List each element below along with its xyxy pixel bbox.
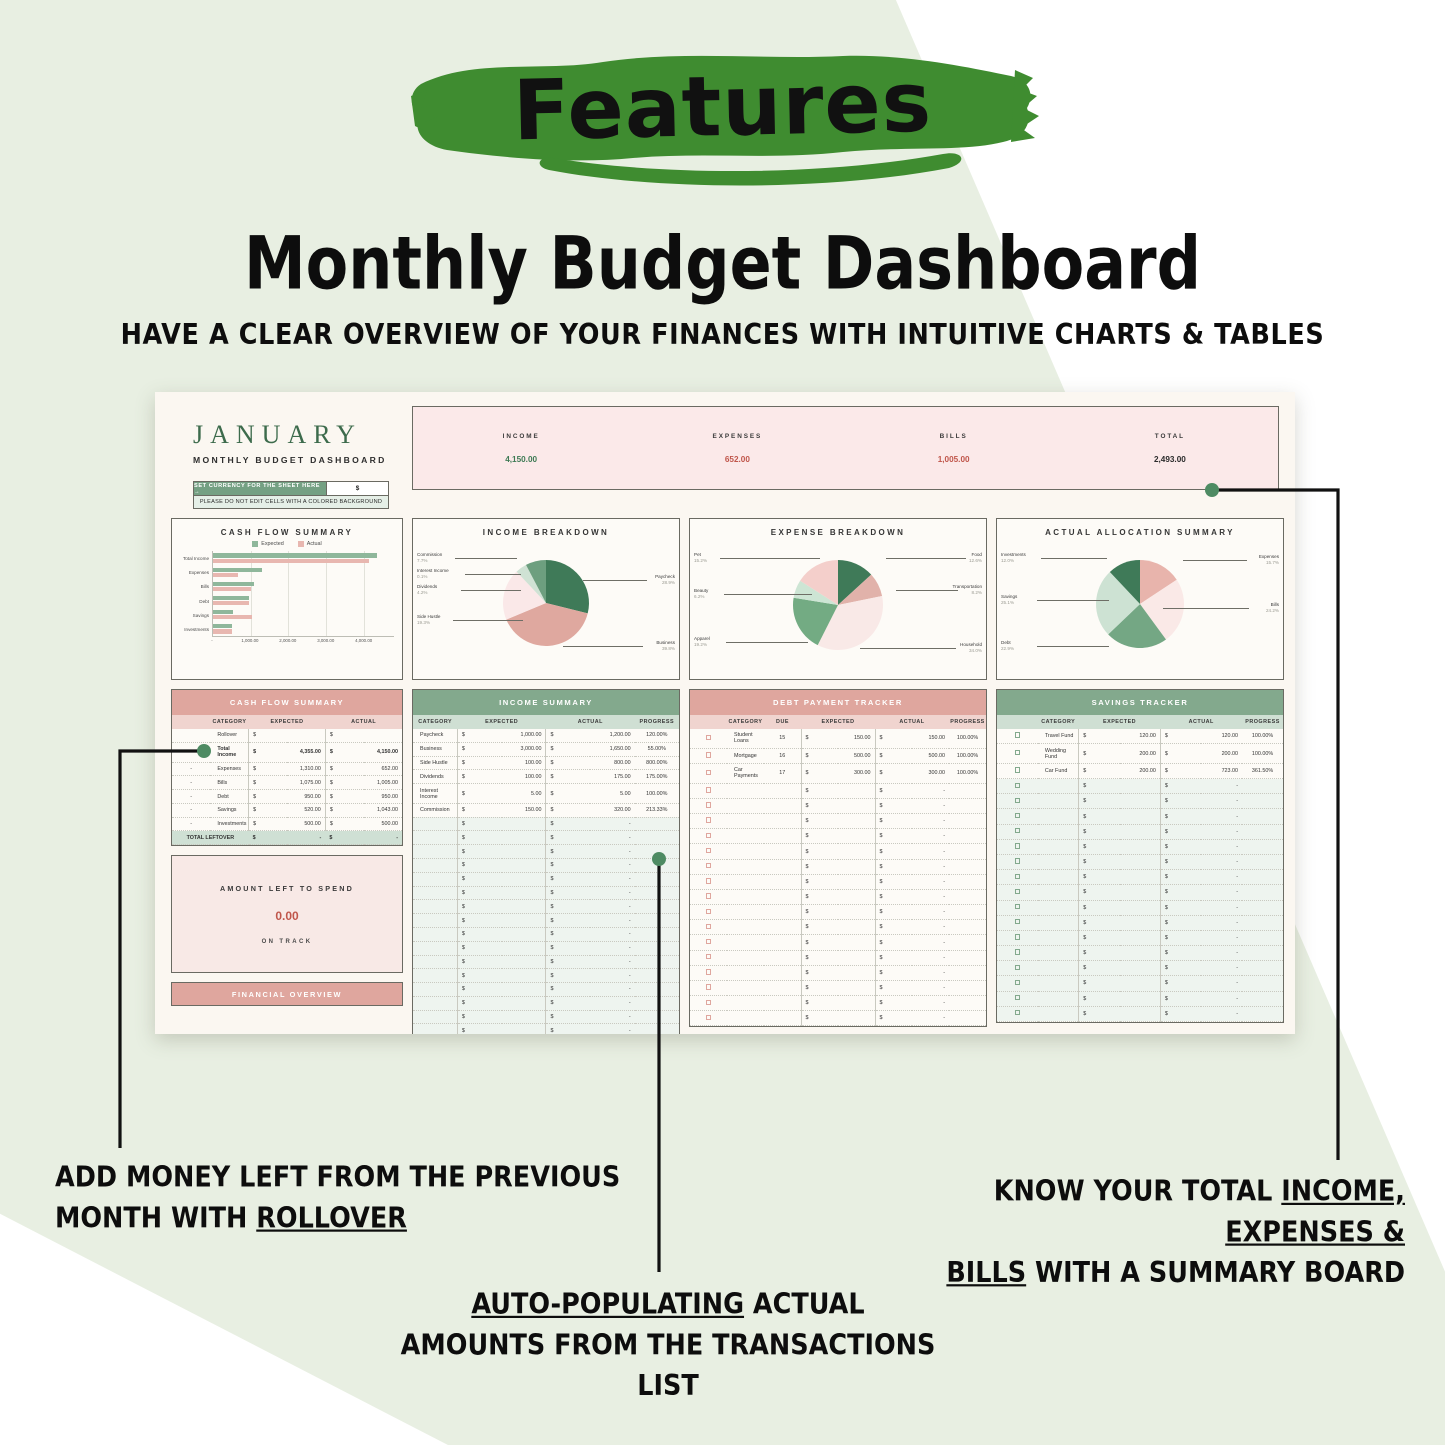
row-actual: -	[912, 844, 949, 859]
callout-auto-line2: AMOUNTS FROM THE TRANSACTIONS LIST	[378, 1326, 958, 1407]
checkbox-icon[interactable]	[1015, 828, 1020, 833]
table-header-row: CATEGORYDUEEXPECTEDACTUALPROGRESS	[690, 715, 986, 729]
checkbox-icon[interactable]	[706, 1015, 711, 1020]
row-checkbox[interactable]	[690, 1011, 727, 1026]
amount-left-to-spend-card: AMOUNT LEFT TO SPEND 0.00 ON TRACK	[171, 855, 403, 973]
bar-expected	[213, 568, 262, 572]
bar-group	[213, 623, 394, 635]
bar-group	[213, 552, 394, 564]
row-checkbox[interactable]	[690, 950, 727, 965]
currency-symbol: $	[1079, 976, 1120, 991]
currency-symbol: $	[1079, 824, 1120, 839]
table-row-empty: $$-	[413, 969, 679, 983]
row-actual: -	[1201, 991, 1242, 1006]
row-actual: 150.00	[912, 729, 949, 748]
row-checkbox[interactable]	[690, 905, 727, 920]
row-progress	[635, 845, 679, 859]
currency-symbol: $	[1079, 744, 1120, 764]
row-checkbox[interactable]	[997, 729, 1038, 744]
row-expected: 950.00	[287, 790, 325, 804]
table-row-empty: $$-	[413, 927, 679, 941]
row-progress	[635, 886, 679, 900]
row-actual: -	[912, 905, 949, 920]
bar-expected	[213, 582, 254, 586]
row-category	[727, 905, 764, 920]
callout-auto-populating: AUTO-POPULATING ACTUAL AMOUNTS FROM THE …	[378, 1285, 958, 1407]
total-expected: -	[287, 831, 325, 845]
row-category	[727, 798, 764, 813]
checkbox-icon[interactable]	[706, 787, 711, 792]
table-row: Student Loans15$150.00$150.00100.00%	[690, 729, 986, 748]
row-category	[413, 927, 457, 941]
checkbox-icon[interactable]	[706, 735, 711, 740]
pie-label-savings: Savings25.1%	[1001, 594, 1017, 605]
pie-label-business: Business39.8%	[656, 640, 675, 651]
row-category	[413, 845, 457, 859]
currency-symbol: $	[801, 965, 838, 980]
currency-symbol: $	[457, 914, 501, 928]
checkbox-icon[interactable]	[1015, 732, 1020, 737]
checkbox-icon[interactable]	[1015, 965, 1020, 970]
row-progress	[949, 996, 986, 1011]
table-row-empty: $$-	[413, 831, 679, 845]
row-progress	[635, 983, 679, 997]
table-row-empty: $$-	[997, 1006, 1283, 1021]
currency-symbol: $	[1160, 885, 1201, 900]
amount-left-status: ON TRACK	[262, 939, 313, 945]
row-category	[727, 889, 764, 904]
row-actual: -	[590, 914, 634, 928]
row-actual: -	[912, 859, 949, 874]
row-category	[413, 886, 457, 900]
row-actual: -	[1201, 794, 1242, 809]
column-header: CATEGORY	[413, 715, 457, 729]
row-checkbox[interactable]	[997, 991, 1038, 1006]
currency-symbol: $	[325, 742, 363, 762]
currency-symbol: $	[546, 803, 590, 817]
currency-symbol: $	[1160, 809, 1201, 824]
row-category: Student Loans	[727, 729, 764, 748]
row-progress: 55.00%	[635, 742, 679, 756]
bar-actual	[213, 615, 252, 619]
checkbox-icon[interactable]	[1015, 767, 1020, 772]
checkbox-icon[interactable]	[706, 833, 711, 838]
currency-symbol: $	[1160, 794, 1201, 809]
row-sign: -	[172, 790, 210, 804]
checkbox-icon[interactable]	[1015, 858, 1020, 863]
column-header: EXPECTED	[801, 715, 875, 729]
row-expected	[287, 729, 325, 742]
row-checkbox[interactable]	[690, 889, 727, 904]
row-checkbox[interactable]	[690, 844, 727, 859]
row-checkbox[interactable]	[690, 920, 727, 935]
checkbox-icon[interactable]	[1015, 949, 1020, 954]
row-checkbox[interactable]	[690, 980, 727, 995]
pie-label-text: Investments	[1001, 552, 1026, 557]
row-progress	[1242, 1006, 1283, 1021]
row-category: Debt	[210, 790, 248, 804]
checkbox-icon[interactable]	[1015, 919, 1020, 924]
row-category	[1038, 779, 1079, 794]
bar-label: Debt	[176, 599, 212, 604]
row-expected: 100.00	[502, 756, 546, 770]
row-actual: -	[1201, 870, 1242, 885]
row-expected	[502, 941, 546, 955]
row-progress	[1242, 961, 1283, 976]
row-category: Business	[413, 742, 457, 756]
row-expected: 150.00	[838, 729, 875, 748]
pie-label-percent: 39.8%	[662, 646, 675, 651]
checkbox-icon[interactable]	[1015, 889, 1020, 894]
summary-item-label: EXPENSES	[629, 433, 845, 440]
row-category: Investments	[210, 817, 248, 831]
table-row-empty: $$-	[997, 930, 1283, 945]
row-expected: 300.00	[838, 763, 875, 783]
checkbox-icon[interactable]	[1015, 995, 1020, 1000]
pie-leader-line	[455, 558, 517, 559]
row-progress: 800.00%	[635, 756, 679, 770]
currency-symbol: $	[1079, 915, 1120, 930]
row-checkbox[interactable]	[997, 809, 1038, 824]
row-sign	[172, 729, 210, 742]
currency-setting-box[interactable]: SET CURRENCY FOR THE SHEET HERE → $ PLEA…	[193, 481, 389, 509]
row-checkbox[interactable]	[997, 976, 1038, 991]
checkbox-icon[interactable]	[1015, 783, 1020, 788]
checkbox-icon[interactable]	[706, 848, 711, 853]
row-checkbox[interactable]	[690, 763, 727, 783]
pie-label-percent: 19.2%	[694, 642, 707, 647]
checkbox-icon[interactable]	[1015, 980, 1020, 985]
row-progress	[1242, 854, 1283, 869]
row-category	[1038, 915, 1079, 930]
legend-swatch	[252, 541, 258, 547]
row-category	[413, 859, 457, 873]
column-header: EXPECTED	[1079, 715, 1161, 729]
row-expected	[838, 950, 875, 965]
bar-group	[213, 581, 394, 593]
pie-label-text: Debt	[1001, 640, 1011, 645]
row-checkbox[interactable]	[997, 854, 1038, 869]
row-progress	[1242, 976, 1283, 991]
row-checkbox[interactable]	[690, 965, 727, 980]
checkbox-icon[interactable]	[706, 817, 711, 822]
checkbox-icon[interactable]	[706, 893, 711, 898]
checkbox-icon[interactable]	[706, 770, 711, 775]
checkbox-icon[interactable]	[706, 984, 711, 989]
row-actual: -	[590, 955, 634, 969]
row-category	[413, 1024, 457, 1034]
row-due	[764, 935, 801, 950]
table-row-empty: $$-	[690, 905, 986, 920]
currency-symbol: $	[457, 770, 501, 784]
pie-leader-line	[896, 590, 958, 591]
row-progress: 175.00%	[635, 770, 679, 784]
table-row-empty: $$-	[690, 829, 986, 844]
currency-symbol: $	[457, 859, 501, 873]
row-category: Commission	[413, 803, 457, 817]
bar-expected	[213, 596, 249, 600]
row-checkbox[interactable]	[997, 870, 1038, 885]
row-actual: 120.00	[1201, 729, 1242, 744]
row-progress: 213.33%	[635, 803, 679, 817]
row-checkbox[interactable]	[997, 839, 1038, 854]
currency-symbol: $	[1160, 991, 1201, 1006]
row-checkbox[interactable]	[690, 829, 727, 844]
currency-symbol: $	[1079, 991, 1120, 1006]
table-row: +Total Income$4,355.00$4,150.00	[172, 742, 402, 762]
row-checkbox[interactable]	[690, 874, 727, 889]
checkbox-icon[interactable]	[1015, 750, 1020, 755]
currency-symbol: $	[546, 983, 590, 997]
row-actual: -	[912, 996, 949, 1011]
row-actual: -	[912, 965, 949, 980]
row-checkbox[interactable]	[997, 824, 1038, 839]
row-category	[413, 941, 457, 955]
checkbox-icon[interactable]	[706, 969, 711, 974]
row-due: 15	[764, 729, 801, 748]
pie-chart	[413, 554, 679, 666]
row-checkbox[interactable]	[997, 915, 1038, 930]
currency-symbol: $	[457, 927, 501, 941]
row-sign: -	[172, 762, 210, 776]
pie-label-percent: 12.0%	[1001, 558, 1014, 563]
bar-expected	[213, 624, 232, 628]
currency-symbol: $	[457, 969, 501, 983]
row-due	[764, 814, 801, 829]
checkbox-icon[interactable]	[1015, 874, 1020, 879]
row-actual: 1,200.00	[590, 729, 634, 742]
row-checkbox[interactable]	[997, 946, 1038, 961]
table-row-empty: $$-	[413, 872, 679, 886]
currency-symbol: $	[1079, 930, 1120, 945]
checkbox-icon[interactable]	[706, 1000, 711, 1005]
row-category: Car Fund	[1038, 763, 1079, 778]
currency-symbol: $	[1079, 794, 1120, 809]
row-expected: 1,310.00	[287, 762, 325, 776]
pie-label-text: Bills	[1271, 602, 1279, 607]
checkbox-icon[interactable]	[706, 802, 711, 807]
row-sign: +	[172, 742, 210, 762]
currency-symbol: $	[1079, 946, 1120, 961]
currency-symbol: $	[249, 803, 287, 817]
row-category	[413, 831, 457, 845]
row-expected: 5.00	[502, 784, 546, 804]
row-actual: 175.00	[590, 770, 634, 784]
currency-symbol: $	[1160, 729, 1201, 744]
currency-symbol: $	[1160, 854, 1201, 869]
checkbox-icon[interactable]	[1015, 1010, 1020, 1015]
checkbox-icon[interactable]	[706, 954, 711, 959]
row-checkbox[interactable]	[997, 1006, 1038, 1021]
amount-left-title: AMOUNT LEFT TO SPEND	[220, 884, 354, 893]
savings-tracker-table: SAVINGS TRACKER CATEGORYEXPECTEDACTUALPR…	[996, 689, 1284, 1023]
row-checkbox[interactable]	[690, 814, 727, 829]
currency-symbol: $	[875, 996, 912, 1011]
currency-symbol: $	[875, 829, 912, 844]
callout-rollover: ADD MONEY LEFT FROM THE PREVIOUS MONTH W…	[55, 1158, 620, 1239]
row-category	[1038, 976, 1079, 991]
row-actual: -	[1201, 915, 1242, 930]
row-category	[1038, 946, 1079, 961]
checkbox-icon[interactable]	[1015, 813, 1020, 818]
table-row-empty: $$-	[413, 955, 679, 969]
column-header: PROGRESS	[1242, 715, 1283, 729]
row-checkbox[interactable]	[997, 930, 1038, 945]
row-actual: -	[590, 969, 634, 983]
row-actual: -	[590, 983, 634, 997]
checkbox-icon[interactable]	[706, 863, 711, 868]
pie-label-expenses: Expenses15.7%	[1259, 554, 1279, 565]
row-progress: 120.00%	[635, 729, 679, 742]
row-actual: -	[590, 927, 634, 941]
bar-actual	[213, 573, 238, 577]
table-row-empty: $$-	[690, 996, 986, 1011]
row-progress	[949, 980, 986, 995]
actual-allocation-chart: ACTUAL ALLOCATION SUMMARY Investments12.…	[996, 518, 1284, 680]
row-expected: 200.00	[1120, 763, 1161, 778]
currency-symbol: $	[325, 831, 363, 845]
row-checkbox[interactable]	[997, 961, 1038, 976]
row-progress	[1242, 794, 1283, 809]
row-checkbox[interactable]	[690, 798, 727, 813]
currency-symbol: $	[1160, 839, 1201, 854]
row-expected	[838, 965, 875, 980]
row-actual: -	[1201, 930, 1242, 945]
currency-symbol: $	[249, 790, 287, 804]
currency-symbol: $	[1079, 961, 1120, 976]
pie-label-text: Interest Income	[417, 568, 449, 573]
table-row-empty: $$-	[413, 1024, 679, 1034]
table-row-empty: $$-	[690, 935, 986, 950]
row-checkbox[interactable]	[690, 729, 727, 748]
currency-symbol: $	[325, 729, 363, 742]
checkbox-icon[interactable]	[1015, 798, 1020, 803]
row-progress: 100.00%	[949, 763, 986, 783]
row-actual: -	[590, 886, 634, 900]
row-checkbox[interactable]	[690, 748, 727, 763]
currency-symbol: $	[875, 844, 912, 859]
row-checkbox[interactable]	[997, 794, 1038, 809]
pie-label-percent: 12.6%	[969, 558, 982, 563]
currency-symbol: $	[457, 1024, 501, 1034]
callout-summary-line1-pre: KNOW YOUR TOTAL	[994, 1175, 1282, 1208]
checkbox-icon[interactable]	[1015, 843, 1020, 848]
row-actual: -	[912, 1011, 949, 1026]
pie-label-household: Household34.0%	[960, 642, 982, 653]
table-row: -Debt$950.00$950.00	[172, 790, 402, 804]
currency-symbol: $	[875, 783, 912, 798]
currency-symbol: $	[875, 814, 912, 829]
row-expected: 200.00	[1120, 744, 1161, 764]
currency-symbol: $	[1079, 763, 1120, 778]
bar-group	[213, 609, 394, 621]
currency-symbol: $	[1079, 809, 1120, 824]
currency-symbol: $	[801, 950, 838, 965]
currency-symbol: $	[1160, 1006, 1201, 1021]
row-checkbox[interactable]	[997, 744, 1038, 764]
column-header: CATEGORY	[210, 715, 248, 729]
debt-payment-tracker-table: DEBT PAYMENT TRACKER CATEGORYDUEEXPECTED…	[689, 689, 987, 1027]
pie-chart	[997, 554, 1283, 666]
table-row-empty: $$-	[997, 900, 1283, 915]
column-header: PROGRESS	[635, 715, 679, 729]
row-checkbox[interactable]	[690, 996, 727, 1011]
pie-leader-line	[720, 558, 820, 559]
row-progress	[1242, 779, 1283, 794]
currency-symbol: $	[875, 980, 912, 995]
row-expected: 100.00	[502, 770, 546, 784]
row-actual: -	[1201, 900, 1242, 915]
row-expected	[1120, 854, 1161, 869]
row-due: 16	[764, 748, 801, 763]
row-actual: 5.00	[590, 784, 634, 804]
currency-symbol: $	[546, 914, 590, 928]
checkbox-icon[interactable]	[706, 752, 711, 757]
pie-label-text: Household	[960, 642, 982, 647]
row-expected	[1120, 1006, 1161, 1021]
currency-symbol: $	[1160, 915, 1201, 930]
row-expected	[502, 845, 546, 859]
row-progress	[1242, 946, 1283, 961]
row-expected	[502, 859, 546, 873]
row-checkbox[interactable]	[690, 859, 727, 874]
column-header: ACTUAL	[875, 715, 949, 729]
row-progress	[1242, 991, 1283, 1006]
table-header-row: CATEGORYEXPECTEDACTUAL	[172, 715, 402, 729]
checkbox-icon[interactable]	[706, 878, 711, 883]
row-checkbox[interactable]	[997, 885, 1038, 900]
checkbox-icon[interactable]	[706, 909, 711, 914]
checkbox-icon[interactable]	[706, 924, 711, 929]
currency-symbol: $	[546, 859, 590, 873]
bar-group	[213, 566, 394, 578]
checkbox-icon[interactable]	[1015, 934, 1020, 939]
checkbox-icon[interactable]	[706, 939, 711, 944]
row-checkbox[interactable]	[997, 763, 1038, 778]
pie-leader-line	[726, 642, 808, 643]
table-row: -Investments$500.00$500.00	[172, 817, 402, 831]
pie-leader-line	[453, 620, 523, 621]
row-category	[1038, 930, 1079, 945]
row-actual: -	[1201, 885, 1242, 900]
pie-label-percent: 19.3%	[417, 620, 430, 625]
checkbox-icon[interactable]	[1015, 904, 1020, 909]
table-row-empty: $$-	[413, 996, 679, 1010]
row-checkbox[interactable]	[690, 935, 727, 950]
row-category	[727, 950, 764, 965]
currency-symbol: $	[801, 920, 838, 935]
currency-symbol: $	[325, 762, 363, 776]
pie-label-text: Expenses	[1259, 554, 1279, 559]
currency-symbol: $	[457, 955, 501, 969]
row-checkbox[interactable]	[997, 900, 1038, 915]
row-checkbox[interactable]	[690, 783, 727, 798]
row-category: Car Payments	[727, 763, 764, 783]
row-checkbox[interactable]	[997, 779, 1038, 794]
row-category	[413, 996, 457, 1010]
pie-label-text: Commission	[417, 552, 442, 557]
pie-leader-line	[886, 558, 966, 559]
currency-input[interactable]: $	[326, 482, 388, 495]
row-progress: 100.00%	[1242, 729, 1283, 744]
table-row-empty: $$-	[413, 859, 679, 873]
row-category	[1038, 885, 1079, 900]
currency-symbol: $	[249, 776, 287, 790]
row-expected: 120.00	[1120, 729, 1161, 744]
currency-symbol: $	[875, 729, 912, 748]
currency-symbol: $	[801, 1011, 838, 1026]
currency-symbol: $	[875, 1011, 912, 1026]
